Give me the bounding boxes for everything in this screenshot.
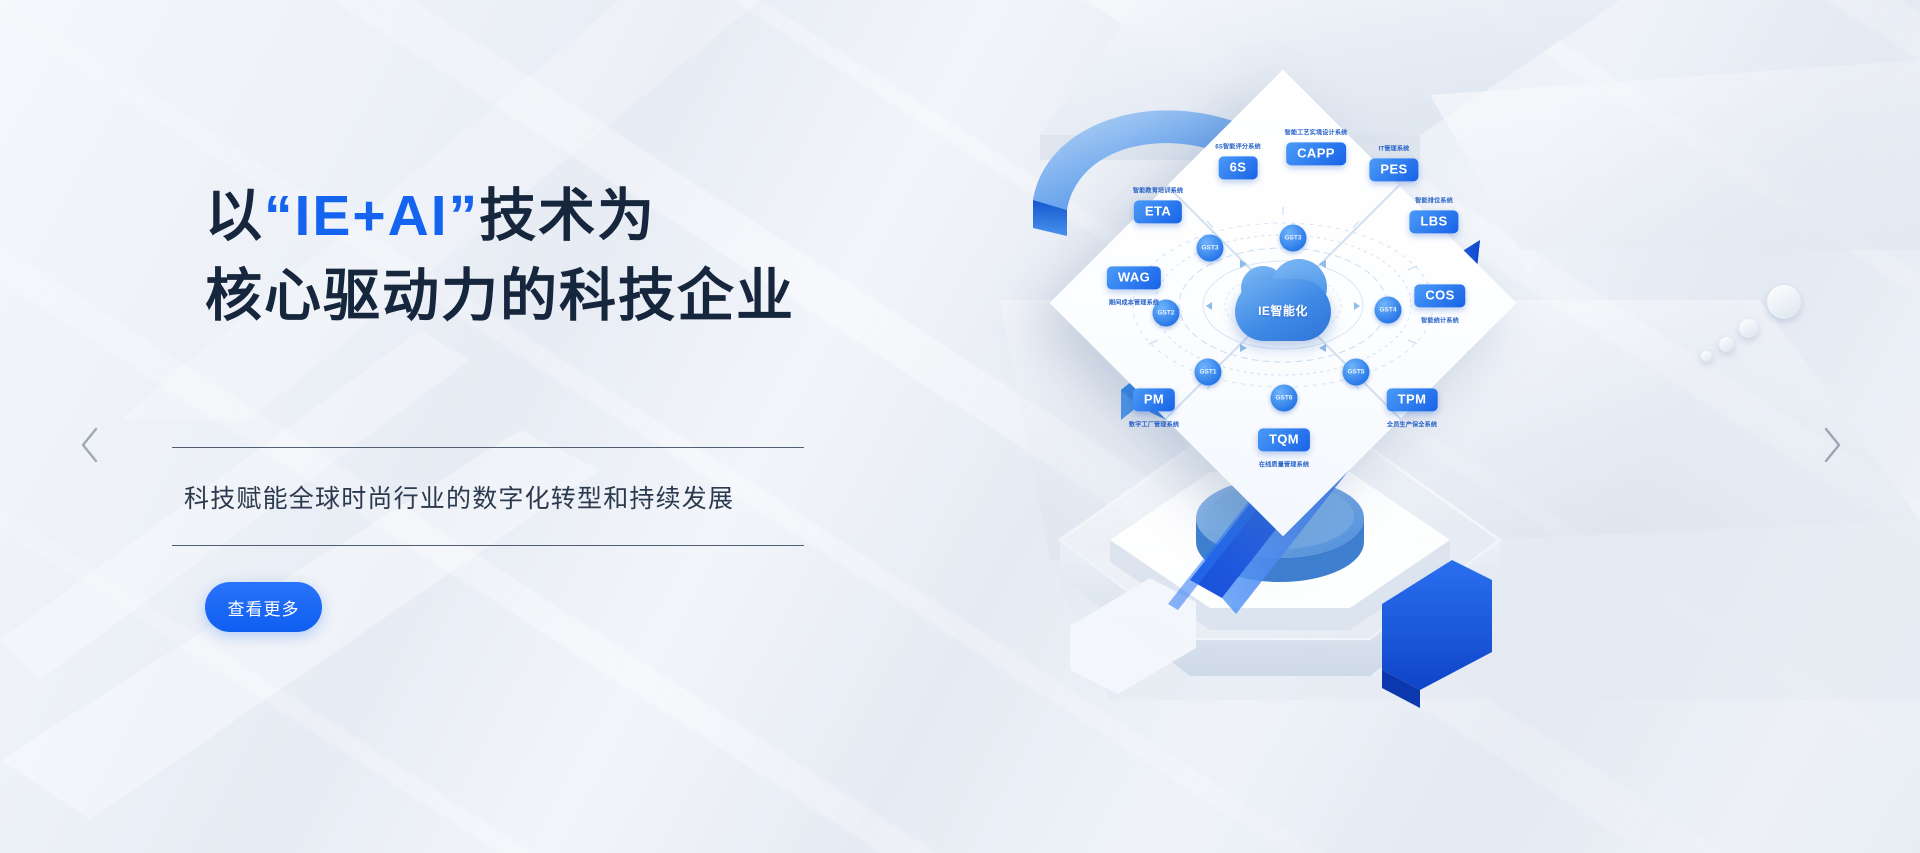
carousel-prev-button[interactable] [70, 425, 110, 465]
module-caption-pes: IT管理系统 [1379, 144, 1410, 153]
module-caption-cos: 智能统计系统 [1421, 316, 1459, 325]
module-pill-eta: ETA [1134, 200, 1182, 223]
diagram-card-inner: GST3 GST2 GST1 GST6 GST5 GST4 GST3 IE智能化 [1118, 138, 1448, 468]
node-gst3-upper: GST3 [1280, 225, 1307, 252]
module-caption-tqm: 在线质量管理系统 [1259, 460, 1309, 469]
node-gst3: GST3 [1197, 235, 1224, 262]
module-caption-pm: 数字工厂管理系统 [1129, 420, 1179, 429]
node-gst1: GST1 [1195, 359, 1222, 386]
node-gst6: GST6 [1271, 385, 1298, 412]
module-pill-tpm: TPM [1387, 388, 1438, 411]
diagram-card: GST3 GST2 GST1 GST6 GST5 GST4 GST3 IE智能化 [1050, 70, 1517, 537]
module-pill-tqm: TQM [1258, 428, 1310, 451]
divider-bottom [172, 545, 804, 546]
chevron-left-icon [77, 425, 103, 465]
module-caption-wag: 期间成本管理系统 [1109, 298, 1159, 307]
node-gst4: GST4 [1375, 297, 1402, 324]
headline-accent: “IE+AI” [264, 184, 479, 248]
module-pill-cos: COS [1414, 284, 1465, 307]
diagram-hub: IE智能化 [1235, 279, 1331, 341]
page-title: 以“IE+AI”技术为 [205, 178, 825, 254]
module-pill-lbs: LBS [1409, 210, 1458, 233]
hero-illustration: GST3 GST2 GST1 GST6 GST5 GST4 GST3 IE智能化 [1000, 30, 1820, 820]
module-pill-pm: PM [1133, 388, 1175, 411]
node-gst5: GST5 [1343, 359, 1370, 386]
module-pill-6s: 6S [1219, 156, 1258, 179]
hero-copy: 以“IE+AI”技术为 核心驱动力的科技企业 [205, 178, 825, 334]
view-more-button[interactable]: 查看更多 [205, 582, 322, 632]
page-title-line2: 核心驱动力的科技企业 [205, 258, 825, 334]
page-subtitle: 科技赋能全球时尚行业的数字化转型和持续发展 [172, 448, 804, 545]
subtitle-block: 科技赋能全球时尚行业的数字化转型和持续发展 [172, 447, 804, 546]
module-caption-tpm: 全员生产保全系统 [1387, 420, 1437, 429]
decorative-spheres [1695, 285, 1805, 395]
module-caption-capp: 智能工艺实境设计系统 [1285, 128, 1348, 137]
headline-suffix: 技术为 [479, 184, 656, 248]
module-pill-pes: PES [1369, 158, 1418, 181]
hero-banner: 以“IE+AI”技术为 核心驱动力的科技企业 科技赋能全球时尚行业的数字化转型和… [0, 0, 1920, 853]
ie-intelligence-diagram: GST3 GST2 GST1 GST6 GST5 GST4 GST3 IE智能化 [1088, 110, 1478, 500]
divider-top [172, 447, 804, 448]
module-caption-eta: 智能教育培训系统 [1133, 186, 1183, 195]
module-caption-6s: 6S智能评分系统 [1215, 142, 1261, 151]
chevron-right-icon [1819, 425, 1845, 465]
module-pill-capp: CAPP [1286, 142, 1346, 165]
module-caption-lbs: 智能排位系统 [1415, 196, 1453, 205]
headline-prefix: 以 [205, 184, 264, 248]
carousel-next-button[interactable] [1812, 425, 1852, 465]
module-pill-wag: WAG [1107, 266, 1161, 289]
hub-label: IE智能化 [1258, 302, 1308, 319]
